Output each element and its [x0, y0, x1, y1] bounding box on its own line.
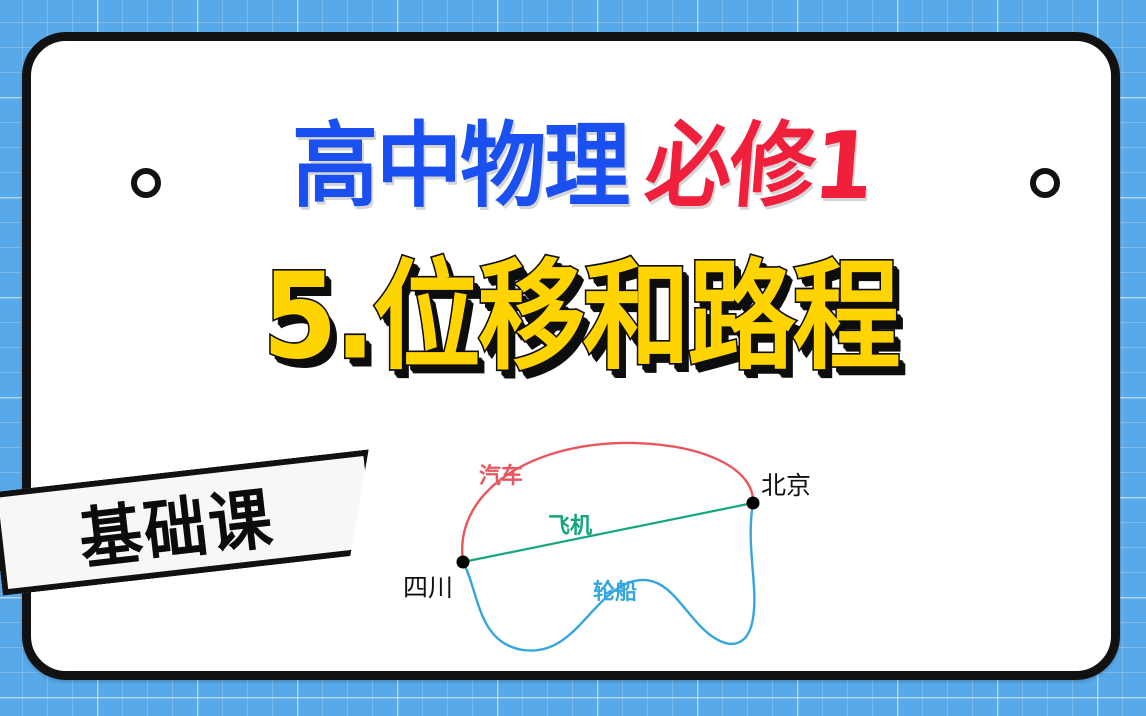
course-type-badge: 基础课	[0, 449, 380, 595]
course-type-badge-label: 基础课	[74, 465, 279, 583]
slide-background: 高中物理 必修1 5.位移和路程 基础课 四川 北京 汽车 飞机 轮船	[0, 0, 1146, 716]
node-label-beijing: 北京	[761, 466, 811, 502]
volume-title: 必修1	[642, 120, 875, 213]
journey-diagram: 四川 北京 汽车 飞机 轮船	[383, 431, 843, 666]
binder-hole-right-icon	[1030, 168, 1060, 198]
content-card: 高中物理 必修1 5.位移和路程 基础课 四川 北京 汽车 飞机 轮船	[22, 32, 1120, 680]
node-label-sichuan: 四川	[403, 568, 453, 604]
main-title-container: 5.位移和路程	[31, 263, 1129, 373]
path-label-ship: 轮船	[593, 574, 637, 606]
subject-title: 高中物理	[292, 120, 628, 213]
path-label-plane: 飞机	[548, 508, 592, 540]
path-plane	[463, 503, 753, 562]
path-label-car: 汽车	[479, 458, 523, 490]
node-dot-beijing	[747, 497, 760, 510]
header-row: 高中物理 必修1	[31, 127, 1129, 213]
page-title: 5.位移和路程	[262, 257, 897, 378]
node-dot-sichuan	[457, 556, 470, 569]
binder-hole-left-icon	[131, 168, 161, 198]
